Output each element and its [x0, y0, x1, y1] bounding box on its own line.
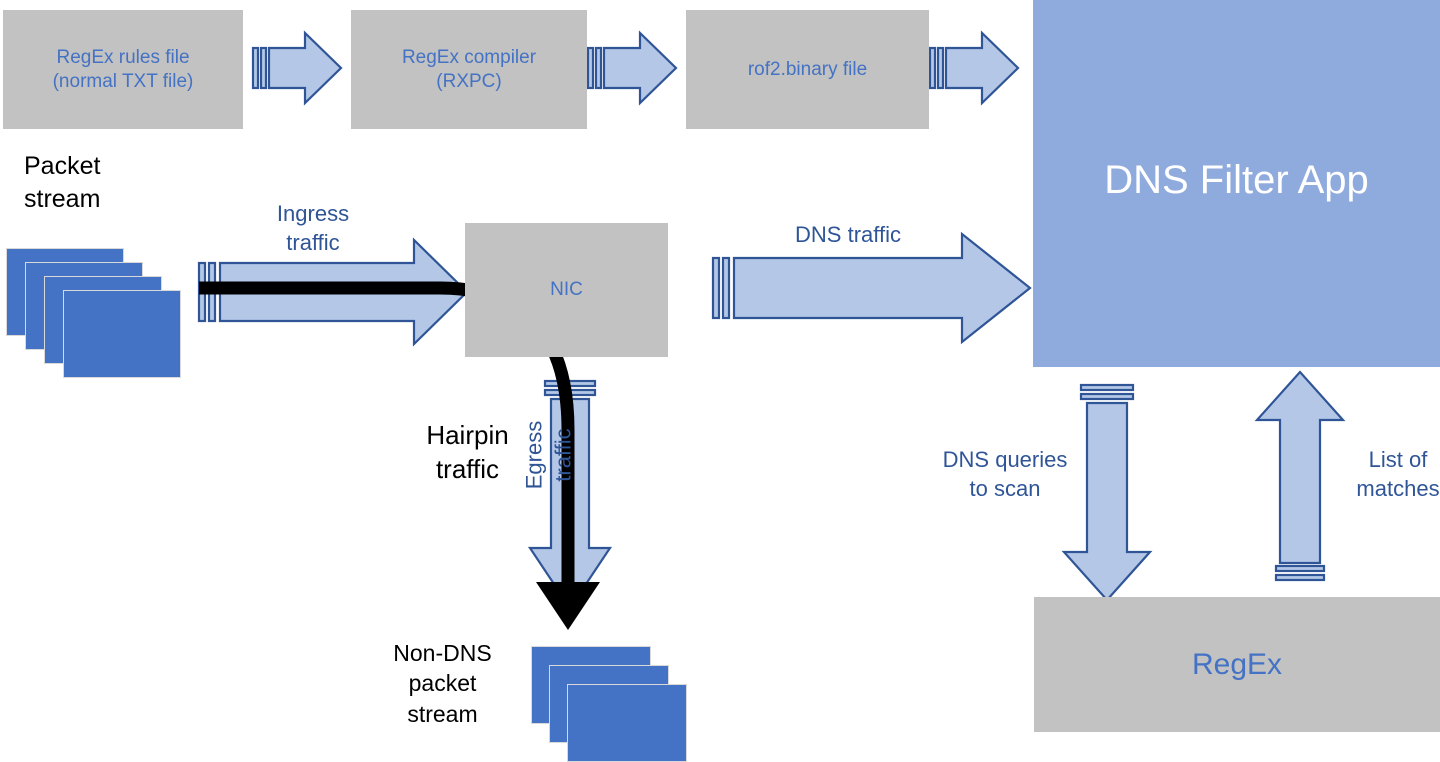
box-regex-compiler-line1: RegEx compiler: [402, 46, 536, 70]
label-non-dns-packet-stream: Non-DNS packet stream: [370, 638, 515, 729]
label-dns-queries-to-scan: DNS queries to scan: [925, 446, 1085, 503]
box-dns-filter-app[interactable]: DNS Filter App: [1033, 0, 1440, 367]
box-rof2-binary-file-label: rof2.binary file: [748, 58, 867, 82]
label-egress-traffic: Egress traffic: [520, 380, 577, 530]
box-regex-rules-file-line2: (normal TXT file): [53, 70, 194, 94]
arrow-list-of-matches: [1257, 372, 1343, 580]
box-regex-rules-file-line1: RegEx rules file: [53, 46, 194, 70]
box-regex-label: RegEx: [1192, 646, 1282, 684]
packet-rect-4: [63, 290, 181, 378]
label-ingress-traffic: Ingress traffic: [238, 200, 388, 257]
label-list-of-matches: List of matches: [1348, 446, 1440, 503]
box-regex-rules-file[interactable]: RegEx rules file (normal TXT file): [3, 10, 243, 129]
arrow-rof2-to-app: [930, 33, 1018, 103]
arrow-rules-to-compiler: [253, 33, 341, 103]
box-nic-label: NIC: [550, 278, 583, 302]
box-dns-filter-app-label: DNS Filter App: [1104, 155, 1369, 205]
box-regex-compiler-line2: (RXPC): [402, 70, 536, 94]
box-regex-compiler[interactable]: RegEx compiler (RXPC): [351, 10, 587, 129]
label-dns-traffic: DNS traffic: [758, 221, 938, 250]
arrow-dns-traffic: [713, 234, 1030, 342]
label-packet-stream: Packet stream: [24, 150, 164, 216]
box-nic[interactable]: NIC: [465, 223, 668, 357]
box-regex[interactable]: RegEx: [1034, 597, 1440, 732]
box-rof2-binary-file[interactable]: rof2.binary file: [686, 10, 929, 129]
arrow-compiler-to-rof2: [588, 33, 676, 103]
non-dns-packet-rect-3: [567, 684, 687, 762]
diagram-canvas: .ar{fill:#b4c7e7;stroke:#2f5597;stroke-w…: [0, 0, 1440, 760]
